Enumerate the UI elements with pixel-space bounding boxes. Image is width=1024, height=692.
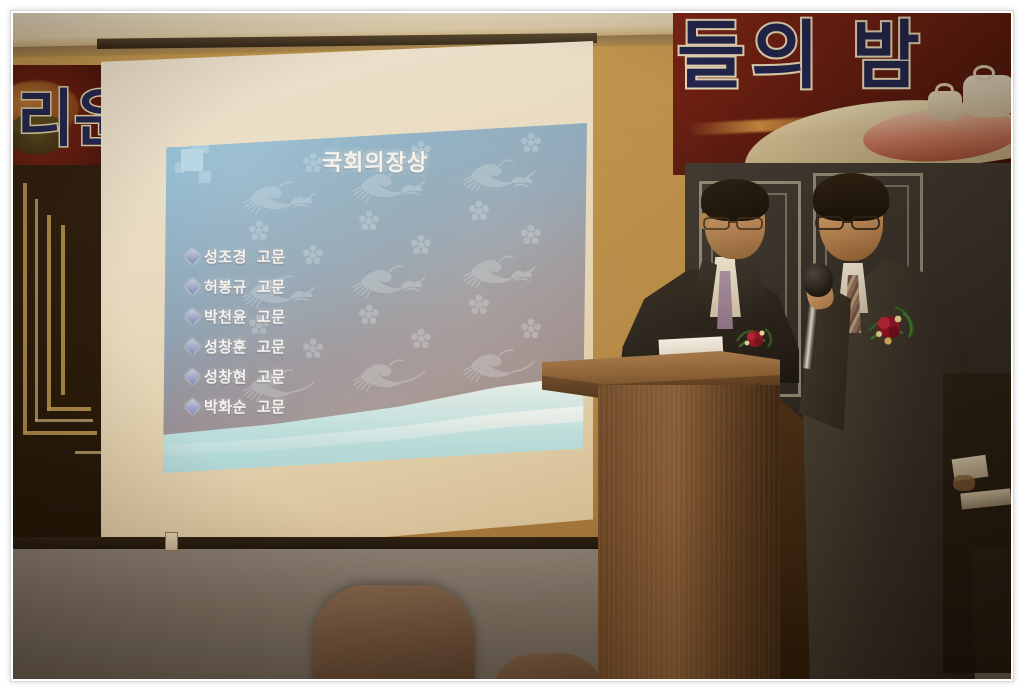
banner-right: 들의 밤 — [673, 13, 1011, 175]
attendant-right-hand — [953, 475, 975, 491]
attendant-right-silhouette — [943, 373, 1011, 673]
gold-line-v2 — [35, 199, 38, 421]
recipient-role: 고문 — [257, 366, 286, 387]
list-item: 성조경 고문 — [187, 241, 437, 271]
eyeglasses-icon — [703, 216, 765, 230]
microphone-icon — [803, 263, 833, 297]
recipient-name: 허봉규 — [204, 276, 247, 297]
list-item: 성창현 고문 — [187, 361, 437, 391]
banner-right-pot-handle-1 — [973, 65, 995, 81]
left-wall-panel — [13, 165, 109, 573]
recipient-role: 고문 — [257, 336, 286, 357]
projected-slide: 국회의장상 성조경 고문 허봉규 고문 박천윤 고문 — [163, 123, 587, 473]
slide-award-list: 성조경 고문 허봉규 고문 박천윤 고문 성창훈 고문 — [187, 241, 437, 421]
recipient-name: 성창훈 — [204, 336, 247, 357]
podium-front-panel — [598, 385, 780, 679]
gold-line-h3 — [47, 407, 91, 411]
gold-line-v4 — [61, 225, 65, 395]
list-item: 허봉규 고문 — [187, 271, 437, 301]
speaker-right-hair — [813, 173, 889, 221]
gold-line-h1 — [23, 431, 97, 435]
banner-right-pot-large — [963, 75, 1011, 117]
recipient-role: 고문 — [257, 246, 286, 267]
diamond-bullet-icon — [185, 398, 201, 414]
wall-outlet-icon — [165, 532, 178, 551]
foreground-chair-left — [313, 585, 475, 679]
list-item: 박천윤 고문 — [187, 301, 437, 331]
recipient-name: 성창현 — [204, 366, 247, 387]
diamond-bullet-icon — [185, 248, 201, 264]
diamond-bullet-icon — [185, 308, 201, 324]
diamond-bullet-icon — [185, 338, 201, 354]
diamond-bullet-icon — [185, 278, 201, 294]
gold-line-h2 — [35, 419, 93, 422]
recipient-role: 고문 — [257, 396, 286, 417]
recipient-name: 박천윤 — [204, 306, 247, 327]
recipient-name: 박화순 — [204, 396, 247, 417]
diamond-bullet-icon — [185, 368, 201, 384]
banner-right-text: 들의 밤 — [677, 17, 926, 95]
banner-right-pot-handle-2 — [935, 83, 954, 97]
recipient-role: 고문 — [257, 276, 286, 297]
slide-title: 국회의장상 — [163, 145, 587, 177]
recipient-role: 고문 — [257, 306, 286, 327]
gold-line-v1 — [23, 183, 27, 433]
eyeglasses-icon — [815, 215, 881, 230]
recipient-name: 성조경 — [204, 246, 247, 267]
banner-left-text: 리운 — [17, 89, 105, 151]
gold-line-v3 — [47, 215, 51, 411]
photo-frame: 리운 들의 밤 — [0, 0, 1024, 692]
list-item: 성창훈 고문 — [187, 331, 437, 361]
photograph: 리운 들의 밤 — [13, 13, 1011, 679]
speaker-left-hair — [701, 179, 769, 221]
corsage-flower-icon — [735, 319, 775, 353]
corsage-flower-icon — [865, 301, 917, 349]
